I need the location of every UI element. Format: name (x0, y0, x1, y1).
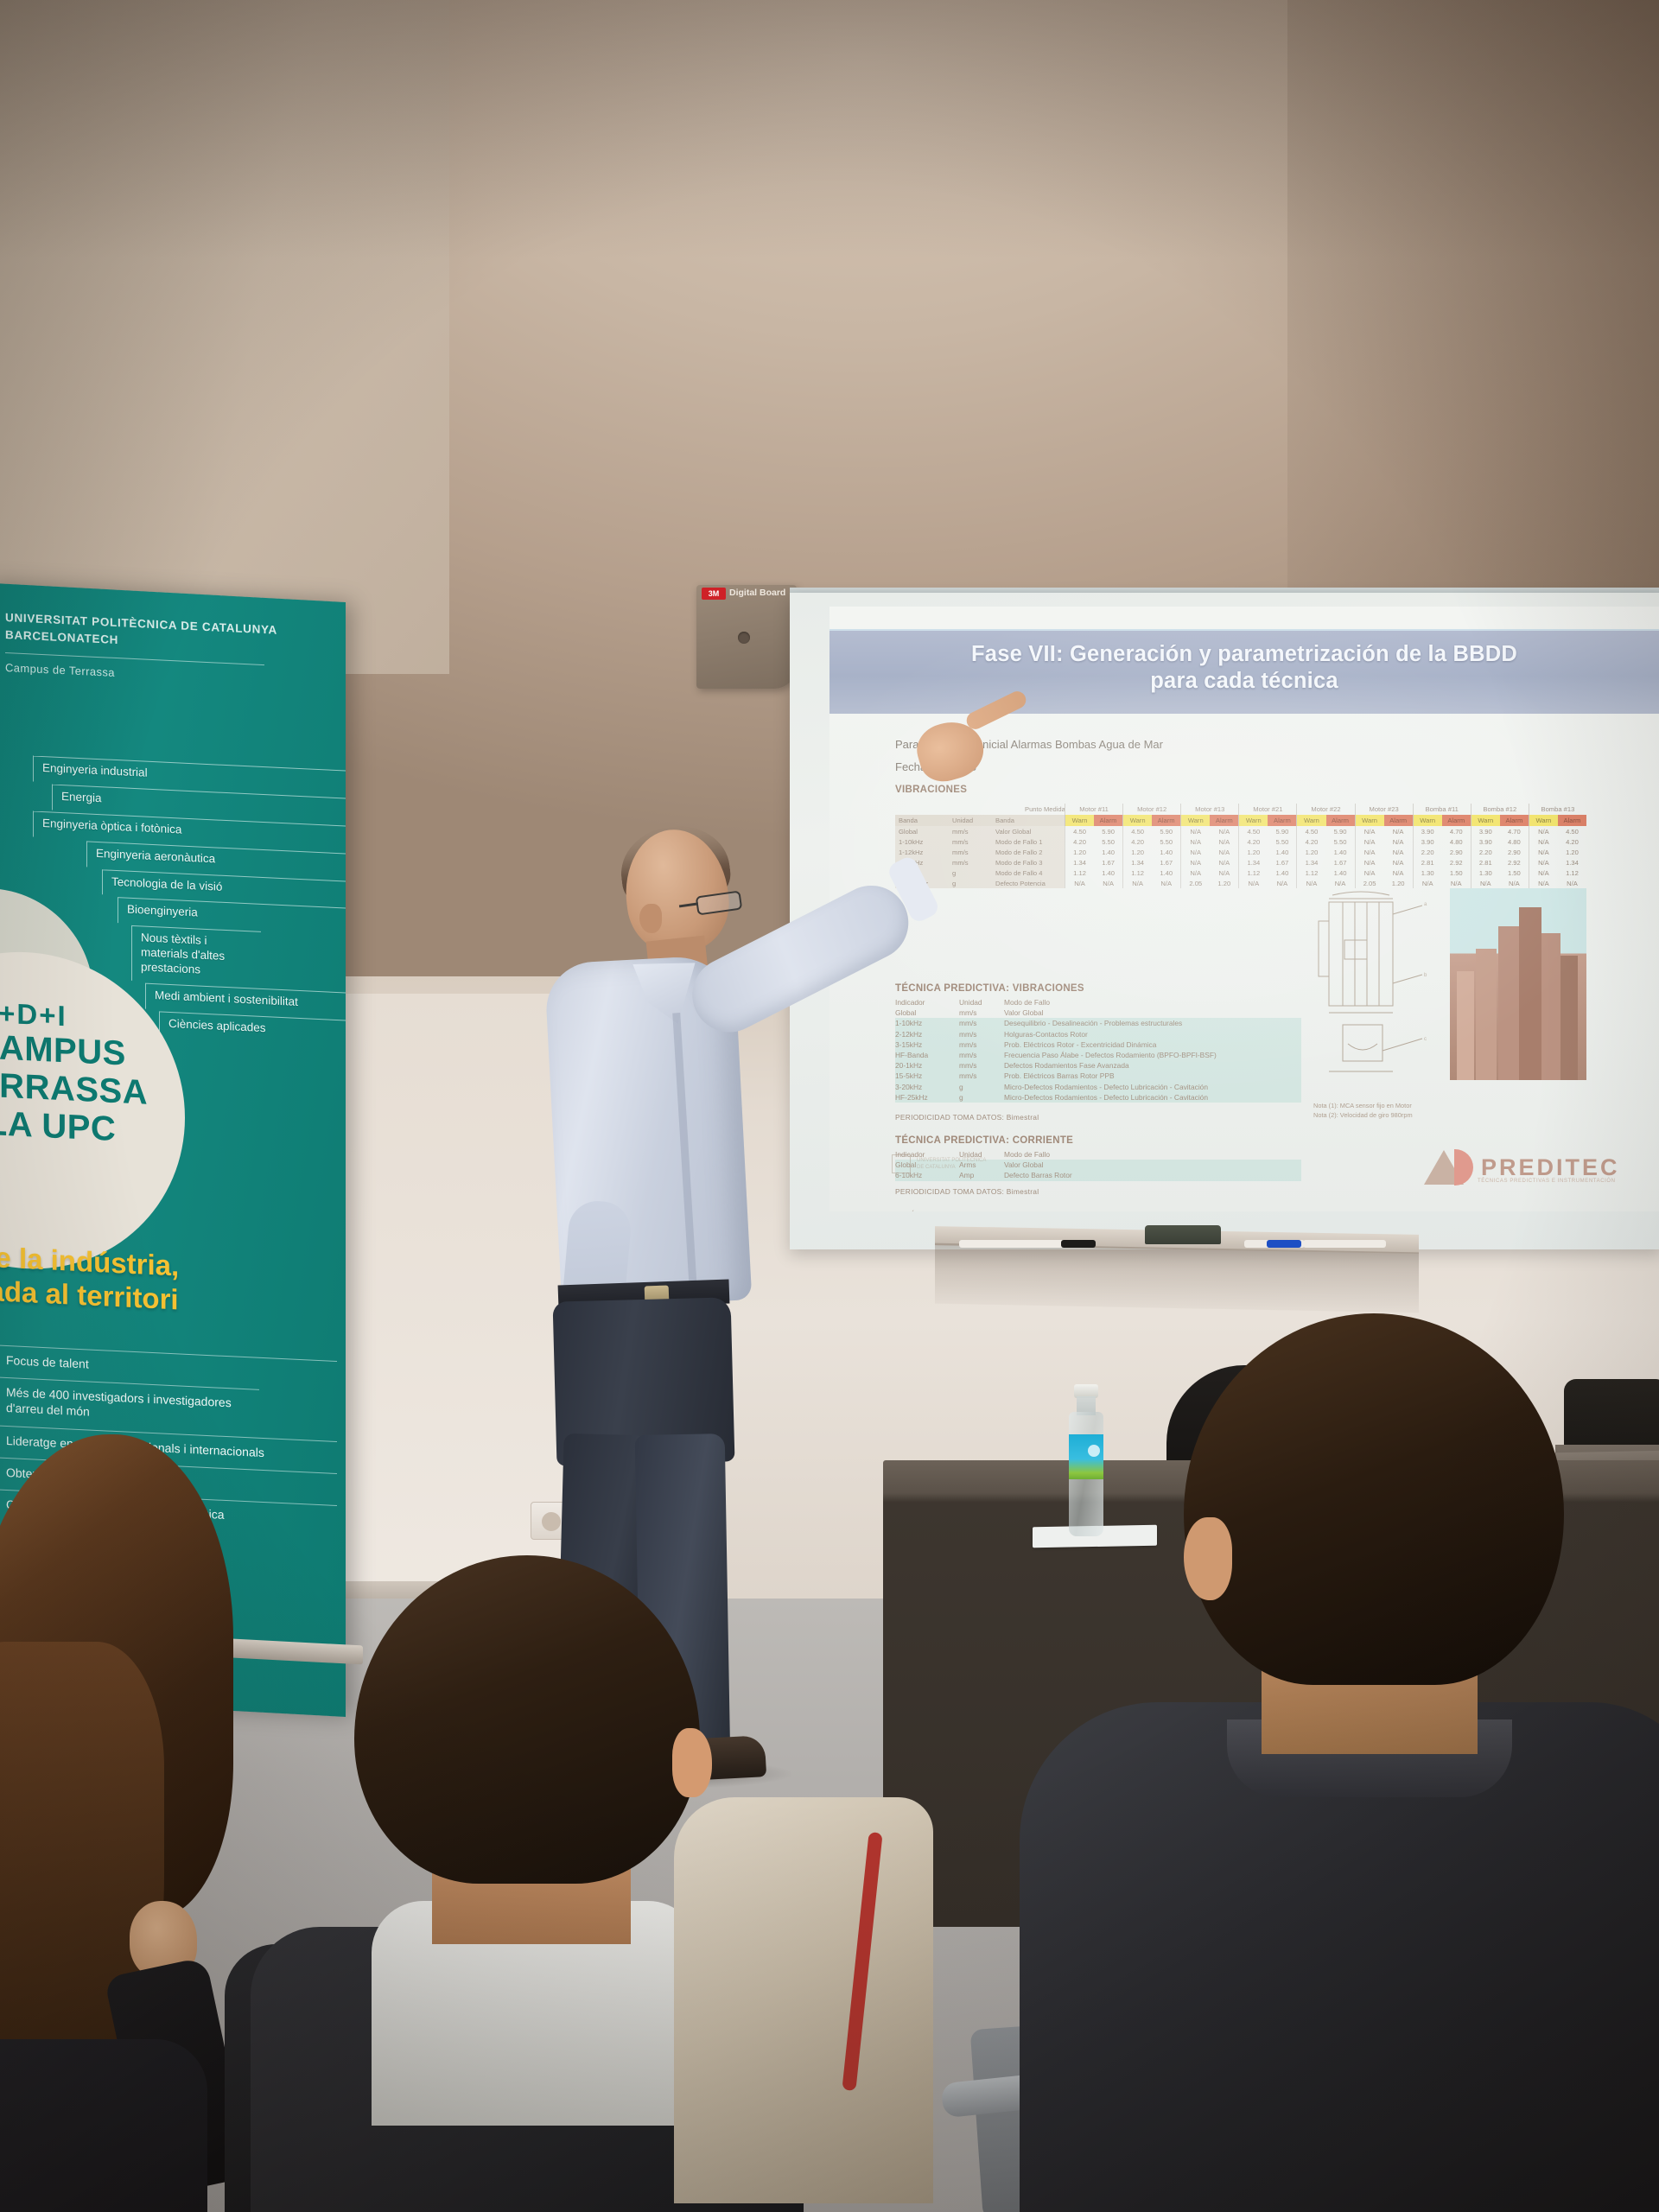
table-cell: N/A (1239, 878, 1268, 888)
table-cell: 1-10kHz (895, 836, 949, 847)
table-cell: 3.90 (1471, 836, 1500, 847)
preditec-tagline: TÉCNICAS PREDICTIVAS E INSTRUMENTACIÓN (1478, 1179, 1616, 1184)
digital-board-bracket: 3M Digital Board (696, 585, 797, 689)
list-cell: Prob. Eléctricos Rotor - Excentricidad D… (1004, 1039, 1301, 1050)
alarm-cell: Alarm (1094, 815, 1122, 826)
table-cell: 1.67 (1268, 857, 1296, 868)
table-header-banda: Banda (895, 815, 949, 826)
coat-body (674, 1797, 933, 2203)
list-item: 20-1kHzmm/sDefectos Rodamientos Fase Ava… (895, 1060, 1301, 1071)
list-cell: Defecto Barras Rotor (1004, 1170, 1301, 1180)
table-cell: N/A (1500, 878, 1529, 888)
table-header-point: Motor #21 (1238, 804, 1296, 815)
alarm-pair: WarnAlarm (1180, 815, 1238, 826)
table-cell: 1.12 (1297, 868, 1325, 878)
alarm-pair: WarnAlarm (1355, 815, 1413, 826)
list-cell: Micro-Defectos Rodamientos - Defecto Lub… (1004, 1092, 1301, 1103)
table-cell: Modo de Fallo 3 (992, 857, 1065, 868)
table-cell: N/A (1529, 868, 1558, 878)
table-cell: 4.70 (1442, 826, 1471, 836)
table-cell: N/A (1356, 857, 1384, 868)
alarm-cell: Alarm (1558, 815, 1586, 826)
table-cell: 2.90 (1442, 847, 1471, 857)
list-cell: mm/s (959, 1050, 1004, 1060)
alarm-pair: WarnAlarm (1413, 815, 1471, 826)
table-value-pair: 2.812.92 (1413, 857, 1471, 868)
warn-cell: Warn (1414, 815, 1442, 826)
whiteboard-tray-shadow (935, 1243, 1419, 1313)
list-cell: mm/s (959, 1071, 1004, 1081)
table-value-pair: N/AN/A (1180, 847, 1238, 857)
table-cell: 2.92 (1500, 857, 1529, 868)
table-cell: 4.20 (1065, 836, 1094, 847)
audience-right-hair (1184, 1313, 1564, 1685)
list-cell: Defectos Rodamientos Fase Avanzada (1004, 1060, 1301, 1071)
slide-section-tecnica-corriente: TÉCNICA PREDICTIVA: CORRIENTE (895, 1135, 1073, 1146)
slide-note-1: Nota (1): MCA sensor fijo en Motor (1313, 1101, 1413, 1110)
list-item: 2-12kHzmm/sHolguras-Contactos Rotor (895, 1029, 1301, 1039)
periodicidad-corriente: PERIODICIDAD TOMA DATOS: Bimestral (895, 1187, 1039, 1196)
table-cell: N/A (1181, 868, 1210, 878)
list-cell: 3-20kHz (895, 1082, 959, 1092)
table-cell: g (949, 878, 992, 888)
table-cell: 3.90 (1414, 836, 1442, 847)
table-cell: 1.30 (1471, 868, 1500, 878)
table-cell: 1.34 (1123, 857, 1152, 868)
table-cell: N/A (1094, 878, 1122, 888)
table-value-pair: 1.301.50 (1471, 868, 1529, 878)
table-value-pair: 4.205.50 (1238, 836, 1296, 847)
table-header-point: Bomba #11 (1413, 804, 1471, 815)
table-cell: mm/s (949, 826, 992, 836)
table-cell: N/A (1356, 826, 1384, 836)
list-item: HF-25kHzgMicro-Defectos Rodamientos - De… (895, 1092, 1301, 1103)
table-cell: N/A (1529, 826, 1558, 836)
table-cell: N/A (1268, 878, 1296, 888)
table-value-pair: N/A4.20 (1529, 836, 1586, 847)
table-cell: N/A (1529, 857, 1558, 868)
slide-note-2: Nota (2): Velocidad de giro 980rpm (1313, 1110, 1413, 1120)
audience-woman-body (0, 2039, 207, 2212)
table-cell: N/A (1181, 826, 1210, 836)
table-cell: 1.20 (1210, 878, 1238, 888)
list-cell: HF-Banda (895, 1050, 959, 1060)
table-value-pair: N/A4.50 (1529, 826, 1586, 836)
svg-text:b: b (1424, 973, 1427, 978)
table-cell: 3.90 (1414, 826, 1442, 836)
table-value-pair: N/AN/A (1180, 857, 1238, 868)
table-value-pair: 1.201.40 (1065, 847, 1122, 857)
table-cell: 4.20 (1123, 836, 1152, 847)
upc-logo-line1: UNIVERSITAT POLITÈCNICA (917, 1157, 986, 1164)
table-cell: N/A (1210, 857, 1238, 868)
table-header-punto: Punto Medida (895, 804, 1065, 815)
table-row: HF-10kHzgDefecto PotenciaN/AN/AN/AN/A2.0… (895, 878, 1586, 888)
table-cell: N/A (1210, 847, 1238, 857)
list-cell: Unidad (959, 997, 1004, 1007)
table-value-pair: N/AN/A (1122, 878, 1180, 888)
table-cell: 1.30 (1414, 868, 1442, 878)
table-value-pair: N/AN/A (1355, 857, 1413, 868)
upc-logo: UNIVERSITAT POLITÈCNICA DE CATALUNYA (892, 1154, 986, 1173)
table-cell: 1.20 (1065, 847, 1094, 857)
table-cell: N/A (1529, 847, 1558, 857)
list-item: HF-Bandamm/sFrecuencia Paso Álabe - Defe… (895, 1050, 1301, 1060)
slide-title-line2: para cada técnica (829, 668, 1659, 695)
3m-logo: 3M (702, 588, 726, 600)
table-cell: 1.40 (1152, 868, 1180, 878)
upc-logo-line2: DE CATALUNYA (917, 1164, 986, 1171)
alarm-cell: Alarm (1326, 815, 1355, 826)
table-value-pair: N/A1.20 (1529, 847, 1586, 857)
table-value-pair: 2.812.92 (1471, 857, 1529, 868)
table-cell: 1.50 (1500, 868, 1529, 878)
list-cell: Valor Global (1004, 1160, 1301, 1170)
warn-cell: Warn (1065, 815, 1094, 826)
presenter-ear (639, 904, 662, 933)
coat-on-chair (674, 1797, 950, 2212)
alarm-pair: WarnAlarm (1122, 815, 1180, 826)
preditec-wordmark: PREDITEC (1481, 1154, 1620, 1181)
table-value-pair: N/AN/A (1180, 836, 1238, 847)
table-band-lead: Banda Unidad Banda (895, 815, 1065, 826)
list-cell: Desequilibrio - Desalineación - Problema… (1004, 1018, 1301, 1028)
table-cell: 2.81 (1414, 857, 1442, 868)
alarm-pair: WarnAlarm (1529, 815, 1586, 826)
table-value-pair: N/AN/A (1180, 826, 1238, 836)
alarm-pair: WarnAlarm (1471, 815, 1529, 826)
table-cell: N/A (1181, 857, 1210, 868)
list-cell: 3-15kHz (895, 1039, 959, 1050)
warn-cell: Warn (1123, 815, 1152, 826)
list-cell: mm/s (959, 1029, 1004, 1039)
table-cell: mm/s (949, 857, 992, 868)
bracket-screw-icon (738, 632, 750, 644)
table-cell: N/A (1471, 878, 1500, 888)
warn-cell: Warn (1297, 815, 1325, 826)
audience-person-center (328, 1555, 726, 2212)
table-value-pair: 1.121.40 (1065, 868, 1122, 878)
table-value-pair: 4.505.90 (1296, 826, 1354, 836)
list-cell: Indicador (895, 997, 959, 1007)
table-cell: 3.90 (1471, 826, 1500, 836)
list-cell: mm/s (959, 1039, 1004, 1050)
pump-photo (1450, 888, 1586, 1080)
list-cell: 2-12kHz (895, 1029, 959, 1039)
table-row: 1-12kHzmm/sModo de Fallo 21.201.401.201.… (895, 847, 1586, 857)
list-cell: Micro-Defectos Rodamientos - Defecto Lub… (1004, 1082, 1301, 1092)
list-cell: 1-10kHz (895, 1018, 959, 1028)
table-cell: N/A (1065, 878, 1094, 888)
table-cell: N/A (1442, 878, 1471, 888)
table-cell: mm/s (949, 847, 992, 857)
digital-board-label: Digital Board (729, 588, 785, 598)
warn-cell: Warn (1529, 815, 1558, 826)
slide-title-line1: Fase VII: Generación y parametrización d… (829, 641, 1659, 668)
table-cell: Modo de Fallo 1 (992, 836, 1065, 847)
list-cell: Modo de Fallo (1004, 997, 1301, 1007)
alarm-pair: WarnAlarm (1296, 815, 1354, 826)
table-value-pair: N/A1.34 (1529, 857, 1586, 868)
audience-woman-left (0, 1434, 259, 2212)
table-header-point: Motor #11 (1065, 804, 1122, 815)
preditec-logo: PREDITEC TÉCNICAS PREDICTIVAS E INSTRUME… (1424, 1149, 1620, 1185)
table-header-point: Motor #12 (1122, 804, 1180, 815)
list-item: 3-15kHzmm/sProb. Eléctricos Rotor - Exce… (895, 1039, 1301, 1050)
blue-marker[interactable] (1267, 1240, 1301, 1248)
table-cell: N/A (1210, 868, 1238, 878)
table-cell: 5.50 (1326, 836, 1355, 847)
table-value-pair: 2.051.20 (1180, 878, 1238, 888)
table-value-pair: 1.201.40 (1122, 847, 1180, 857)
alarm-cell: Alarm (1210, 815, 1238, 826)
table-value-pair: N/AN/A (1355, 836, 1413, 847)
list-cell: Frecuencia Paso Álabe - Defectos Rodamie… (1004, 1050, 1301, 1060)
table-value-pair: N/AN/A (1065, 878, 1122, 888)
table-header-lead: Punto Medida (895, 804, 1065, 815)
table-cell: 4.50 (1123, 826, 1152, 836)
table-value-pair: 4.505.90 (1065, 826, 1122, 836)
table-value-pair: 4.505.90 (1238, 826, 1296, 836)
tecnica-vibraciones-list: IndicadorUnidadModo de FalloGlobalmm/sVa… (895, 997, 1301, 1103)
table-cell: 4.50 (1239, 826, 1268, 836)
table-cell: 1.20 (1558, 847, 1586, 857)
table-cell: 1.40 (1326, 847, 1355, 857)
table-cell: N/A (1356, 868, 1384, 878)
table-cell: Valor Global (992, 826, 1065, 836)
table-header-banda2: Banda (992, 815, 1065, 826)
list-cell: Valor Global (1004, 1007, 1301, 1018)
table-cell: N/A (1123, 878, 1152, 888)
audience-center-ear (672, 1728, 712, 1797)
table-cell: N/A (1356, 836, 1384, 847)
list-cell: g (959, 1092, 1004, 1103)
table-cell: N/A (1384, 836, 1413, 847)
table-cell: N/A (1181, 836, 1210, 847)
table-cell: Defecto Potencia (992, 878, 1065, 888)
table-value-pair: 1.121.40 (1122, 868, 1180, 878)
table-cell: 4.70 (1500, 826, 1529, 836)
table-cell: Global (895, 826, 949, 836)
table-cell: 2.90 (1500, 847, 1529, 857)
alarm-cell: Alarm (1268, 815, 1296, 826)
marker-white-2[interactable] (1303, 1240, 1386, 1248)
table-value-pair: 3.904.70 (1471, 826, 1529, 836)
table-cell: 5.90 (1326, 826, 1355, 836)
parametros-proceso: PARÁMETROS DE PROCESO: HORAS DE FUNCIONA… (895, 1210, 1117, 1211)
table-value-pair: 1.121.40 (1296, 868, 1354, 878)
warn-cell: Warn (1181, 815, 1210, 826)
table-value-pair: N/A1.12 (1529, 868, 1586, 878)
table-cell: 1.40 (1326, 868, 1355, 878)
black-marker[interactable] (1061, 1240, 1096, 1248)
table-cell: 1.12 (1065, 868, 1094, 878)
table-cell: 4.80 (1500, 836, 1529, 847)
table-value-pair: N/AN/A (1238, 878, 1296, 888)
warn-cell: Warn (1356, 815, 1384, 826)
list-cell: Global (895, 1007, 959, 1018)
audience-center-hair (354, 1555, 700, 1884)
table-cell: 5.90 (1268, 826, 1296, 836)
table-cell: N/A (1529, 878, 1558, 888)
table-cell: 2.20 (1414, 847, 1442, 857)
table-cell: 5.90 (1094, 826, 1122, 836)
table-cell: N/A (1384, 826, 1413, 836)
table-value-pair: 2.202.90 (1471, 847, 1529, 857)
table-header-point: Motor #23 (1355, 804, 1413, 815)
list-cell: Holguras-Contactos Rotor (1004, 1029, 1301, 1039)
table-cell: 2.81 (1471, 857, 1500, 868)
table-cell: 4.20 (1239, 836, 1268, 847)
table-value-pair: 2.202.90 (1413, 847, 1471, 857)
table-cell: 1.40 (1152, 847, 1180, 857)
list-cell: 15-5kHz (895, 1071, 959, 1081)
table-cell: Modo de Fallo 4 (992, 868, 1065, 878)
svg-text:a: a (1424, 902, 1427, 907)
table-value-pair: N/AN/A (1180, 868, 1238, 878)
table-cell: 1.67 (1152, 857, 1180, 868)
warn-cell: Warn (1471, 815, 1500, 826)
table-cell: 1.34 (1065, 857, 1094, 868)
table-value-pair: 1.201.40 (1238, 847, 1296, 857)
list-cell: Prob. Eléctricos Barras Rotor PPB (1004, 1071, 1301, 1081)
slide-section-vibraciones: VIBRACIONES (895, 785, 967, 795)
whiteboard-eraser[interactable] (1145, 1225, 1221, 1244)
table-value-pair: 1.341.67 (1238, 857, 1296, 868)
upc-logo-mark-icon (892, 1154, 911, 1173)
table-value-pair: 1.341.67 (1065, 857, 1122, 868)
list-item: 1-10kHzmm/sDesequilibrio - Desalineación… (895, 1018, 1301, 1028)
table-cell: 4.50 (1558, 826, 1586, 836)
table-header-point: Motor #22 (1296, 804, 1354, 815)
table-cell: 2.20 (1471, 847, 1500, 857)
table-cell: 1.12 (1123, 868, 1152, 878)
table-cell: 1.40 (1268, 847, 1296, 857)
banner-rdi-heading: R+D+I AL CAMPUS DE TERRASSA DE LA UPC (0, 991, 190, 1153)
table-cell: 5.50 (1152, 836, 1180, 847)
table-value-pair: 4.205.50 (1065, 836, 1122, 847)
list-cell: Modo de Fallo (1004, 1149, 1301, 1160)
table-cell: 5.50 (1268, 836, 1296, 847)
table-cell: 4.20 (1297, 836, 1325, 847)
table-cell: 1.20 (1297, 847, 1325, 857)
table-value-pair: N/AN/A (1355, 868, 1413, 878)
alarm-pair: WarnAlarm (1065, 815, 1122, 826)
table-value-pair: 4.505.90 (1122, 826, 1180, 836)
audience-man-right (1080, 1313, 1659, 2212)
alarm-cell: Alarm (1152, 815, 1180, 826)
table-cell: N/A (1181, 847, 1210, 857)
projected-slide: Fase VII: Generación y parametrización d… (829, 607, 1659, 1211)
table-header-point: Bomba #12 (1471, 804, 1529, 815)
table-value-pair: 3.904.70 (1413, 826, 1471, 836)
table-row-lead: Globalmm/sValor Global (895, 826, 1065, 836)
table-cell: g (949, 868, 992, 878)
alarm-pair: WarnAlarm (1238, 815, 1296, 826)
table-cell: N/A (1210, 826, 1238, 836)
table-row: Globalmm/sValor Global4.505.904.505.90N/… (895, 826, 1586, 836)
list-item: 3-20kHzgMicro-Defectos Rodamientos - Def… (895, 1082, 1301, 1092)
table-cell: 4.80 (1442, 836, 1471, 847)
list-cell: HF-25kHz (895, 1092, 959, 1103)
table-value-pair: N/AN/A (1355, 826, 1413, 836)
list-item: IndicadorUnidadModo de Fallo (895, 997, 1301, 1007)
table-cell: 1.34 (1558, 857, 1586, 868)
table-cell: 4.50 (1065, 826, 1094, 836)
table-header-point: Bomba #13 (1529, 804, 1586, 815)
table-cell: 1-12kHz (895, 847, 949, 857)
alarm-cell: Alarm (1384, 815, 1413, 826)
table-row-lead: 2-15kHzmm/sModo de Fallo 3 (895, 857, 1065, 868)
list-cell: g (959, 1082, 1004, 1092)
list-item: Globalmm/sValor Global (895, 1007, 1301, 1018)
table-cell: 1.40 (1094, 847, 1122, 857)
table-cell: N/A (1384, 868, 1413, 878)
table-value-pair: 1.341.67 (1296, 857, 1354, 868)
table-value-pair: 1.121.40 (1238, 868, 1296, 878)
slide-photo-notes: Nota (1): MCA sensor fijo en Motor Nota … (1313, 1101, 1413, 1121)
table-value-pair: 3.904.80 (1413, 836, 1471, 847)
banner-headline: A prop de la indústria, connectada al te… (0, 1236, 251, 1320)
banner-area-item: Nous tèxtils i materials d'altes prestac… (131, 925, 261, 987)
table-header-point: Motor #13 (1180, 804, 1238, 815)
list-cell: mm/s (959, 1007, 1004, 1018)
table-cell: 1.12 (1558, 868, 1586, 878)
table-header-unidad: Unidad (949, 815, 992, 826)
slide-title: Fase VII: Generación y parametrización d… (829, 641, 1659, 695)
table-row-lead: 1-12kHzmm/sModo de Fallo 2 (895, 847, 1065, 857)
table-value-pair: 1.301.50 (1413, 868, 1471, 878)
banner-campus: Campus de Terrassa (5, 661, 346, 690)
table-cell: 1.20 (1123, 847, 1152, 857)
table-value-pair: 4.205.50 (1296, 836, 1354, 847)
table-row-lead: 1-10kHzmm/sModo de Fallo 1 (895, 836, 1065, 847)
table-cell: 1.50 (1442, 868, 1471, 878)
table-alarm-band-row: Banda Unidad Banda WarnAlarm WarnAlarm W… (895, 815, 1586, 826)
table-cell: 1.67 (1094, 857, 1122, 868)
table-cell: 4.20 (1558, 836, 1586, 847)
periodicidad-vibraciones: PERIODICIDAD TOMA DATOS: Bimestral (895, 1113, 1039, 1122)
conference-room-photo: UNIVERSITAT POLITÈCNICA DE CATALUNYA BAR… (0, 0, 1659, 2212)
preditec-semicircle-icon (1454, 1149, 1473, 1185)
table-row: 1-10kHzmm/sModo de Fallo 14.205.504.205.… (895, 836, 1586, 847)
svg-text:c: c (1424, 1037, 1427, 1042)
table-header-row: Punto Medida Motor #11 Motor #12 Motor #… (895, 804, 1586, 815)
table-value-pair: N/AN/A (1529, 878, 1586, 888)
table-cell: 1.20 (1239, 847, 1268, 857)
table-cell: 1.67 (1326, 857, 1355, 868)
table-row: 1-20HzgModo de Fallo 41.121.401.121.40N/… (895, 868, 1586, 878)
audience-right-ear (1184, 1517, 1232, 1600)
warn-cell: Warn (1239, 815, 1268, 826)
table-cell: N/A (1384, 857, 1413, 868)
slide-section-tecnica-vibraciones: TÉCNICA PREDICTIVA: VIBRACIONES (895, 983, 1084, 994)
list-item: 15-5kHzmm/sProb. Eléctricos Barras Rotor… (895, 1071, 1301, 1081)
table-cell: 1.34 (1297, 857, 1325, 868)
table-cell: 1.40 (1268, 868, 1296, 878)
pump-technical-diagram: abc (1313, 887, 1434, 1092)
upc-logo-text: UNIVERSITAT POLITÈCNICA DE CATALUNYA (917, 1157, 986, 1171)
table-cell: mm/s (949, 836, 992, 847)
alarm-cell: Alarm (1442, 815, 1471, 826)
alarm-cell: Alarm (1500, 815, 1529, 826)
table-body: Globalmm/sValor Global4.505.904.505.90N/… (895, 826, 1586, 888)
table-cell: 4.50 (1297, 826, 1325, 836)
table-cell: N/A (1356, 847, 1384, 857)
table-value-pair: N/AN/A (1471, 878, 1529, 888)
list-cell: 20-1kHz (895, 1060, 959, 1071)
table-cell: 5.50 (1094, 836, 1122, 847)
